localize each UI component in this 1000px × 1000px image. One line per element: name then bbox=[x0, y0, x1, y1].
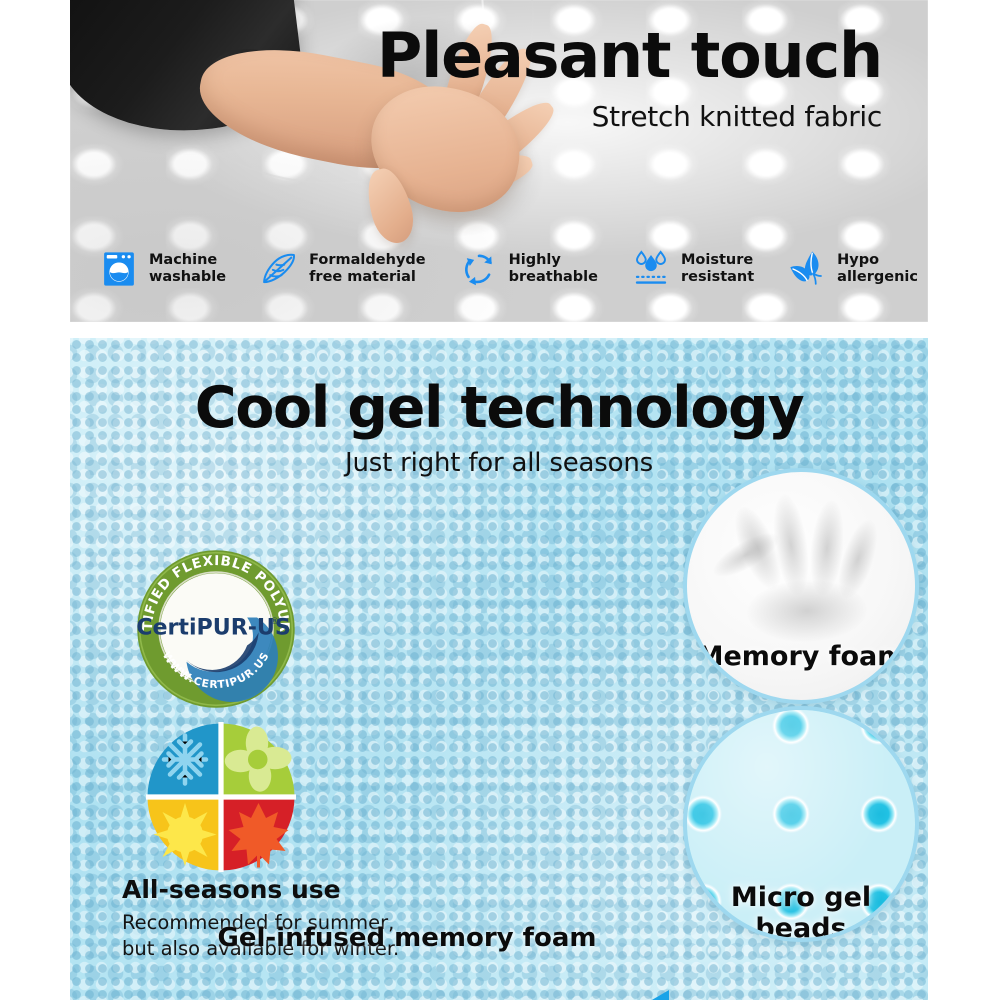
all-seasons-wheel-icon bbox=[146, 722, 296, 872]
feature-label: Machine washable bbox=[149, 252, 226, 286]
memory-foam-caption: Memory foam bbox=[687, 641, 915, 672]
recycle-arrows-icon bbox=[458, 248, 500, 290]
feature-machine-washable: Machine washable bbox=[98, 248, 226, 290]
foam-impression-mark bbox=[746, 578, 868, 644]
washing-machine-icon bbox=[98, 248, 140, 290]
foam-handprint bbox=[703, 490, 899, 655]
badge-center-text: CertiPUR-US bbox=[136, 615, 291, 641]
micro-gel-beads-circle: Micro gel beads bbox=[683, 706, 919, 942]
snowflake-icon bbox=[164, 736, 206, 784]
water-droplets-icon bbox=[630, 248, 672, 290]
bottom-panel-title: Cool gel technology bbox=[70, 380, 928, 437]
certipur-us-badge: CONTAINS CERTIFIED FLEXIBLE POLYURETHANE… bbox=[134, 547, 298, 711]
feature-label: Highly breathable bbox=[509, 252, 598, 286]
top-panel-title: Pleasant touch bbox=[377, 25, 882, 87]
infused-arrow-shape bbox=[565, 976, 805, 1000]
infused-arrow: infused bbox=[565, 976, 805, 1000]
badge-registered-mark: ® bbox=[270, 617, 279, 627]
feature-moisture-resistant: Moisture resistant bbox=[630, 248, 754, 290]
feature-label: Formaldehyde free material bbox=[309, 252, 426, 286]
leaves-icon bbox=[786, 248, 828, 290]
feature-hypo-allergenic: Hypo allergenic bbox=[786, 248, 918, 290]
feature-formaldehyde-free: Formaldehyde free material bbox=[258, 248, 426, 290]
feature-highly-breathable: Highly breathable bbox=[458, 248, 598, 290]
feature-label: Hypo allergenic bbox=[837, 252, 918, 286]
sun-icon bbox=[154, 803, 217, 866]
infographic-stage: Pleasant touch Stretch knitted fabric Ma… bbox=[0, 0, 1000, 1000]
feather-icon bbox=[258, 248, 300, 290]
feature-label: Moisture resistant bbox=[681, 252, 754, 286]
gel-infused-memory-foam-caption: Gel-infused memory foam bbox=[70, 923, 928, 953]
memory-foam-circle: Memory foam bbox=[683, 468, 919, 704]
seasons-title: All-seasons use bbox=[122, 875, 341, 904]
cool-gel-technology-panel: Cool gel technology Just right for all s… bbox=[70, 338, 928, 1000]
top-panel-subtitle: Stretch knitted fabric bbox=[592, 100, 882, 133]
feature-strip: Machine washable Formaldehyde free mater… bbox=[98, 238, 918, 300]
gel-caption-text: Gel-infused memory foam bbox=[217, 923, 596, 953]
pleasant-touch-panel: Pleasant touch Stretch knitted fabric Ma… bbox=[70, 0, 928, 322]
